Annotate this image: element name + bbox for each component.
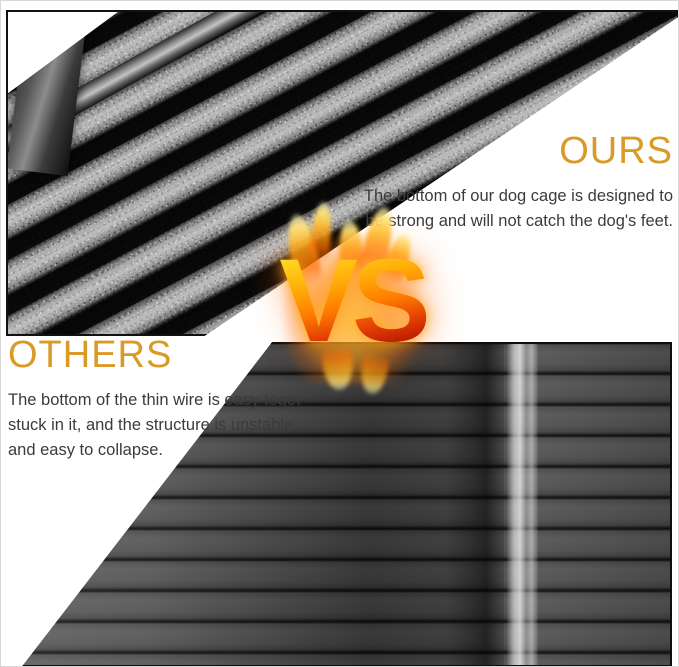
others-headline: OTHERS [8, 336, 308, 374]
wire-panel-specular-band [507, 342, 538, 667]
others-description: The bottom of the thin wire is easy toge… [8, 388, 308, 463]
cross-support-bar [6, 10, 350, 152]
versus-badge: VS [277, 228, 427, 393]
vertical-leg-post [7, 10, 92, 176]
others-text-block: OTHERS The bottom of the thin wire is ea… [8, 336, 308, 463]
flame-tongue-icon [321, 345, 355, 391]
photo-corner-highlight [6, 10, 120, 95]
wire-panel-shadow-band [444, 342, 504, 667]
ours-headline: OURS [343, 132, 673, 170]
comparison-infographic: OURS The bottom of our dog cage is desig… [0, 0, 679, 667]
flame-tongue-icon [358, 352, 389, 395]
ours-description: The bottom of our dog cage is designed t… [343, 184, 673, 234]
versus-label: VS [277, 242, 427, 360]
ours-text-block: OURS The bottom of our dog cage is desig… [343, 132, 673, 234]
